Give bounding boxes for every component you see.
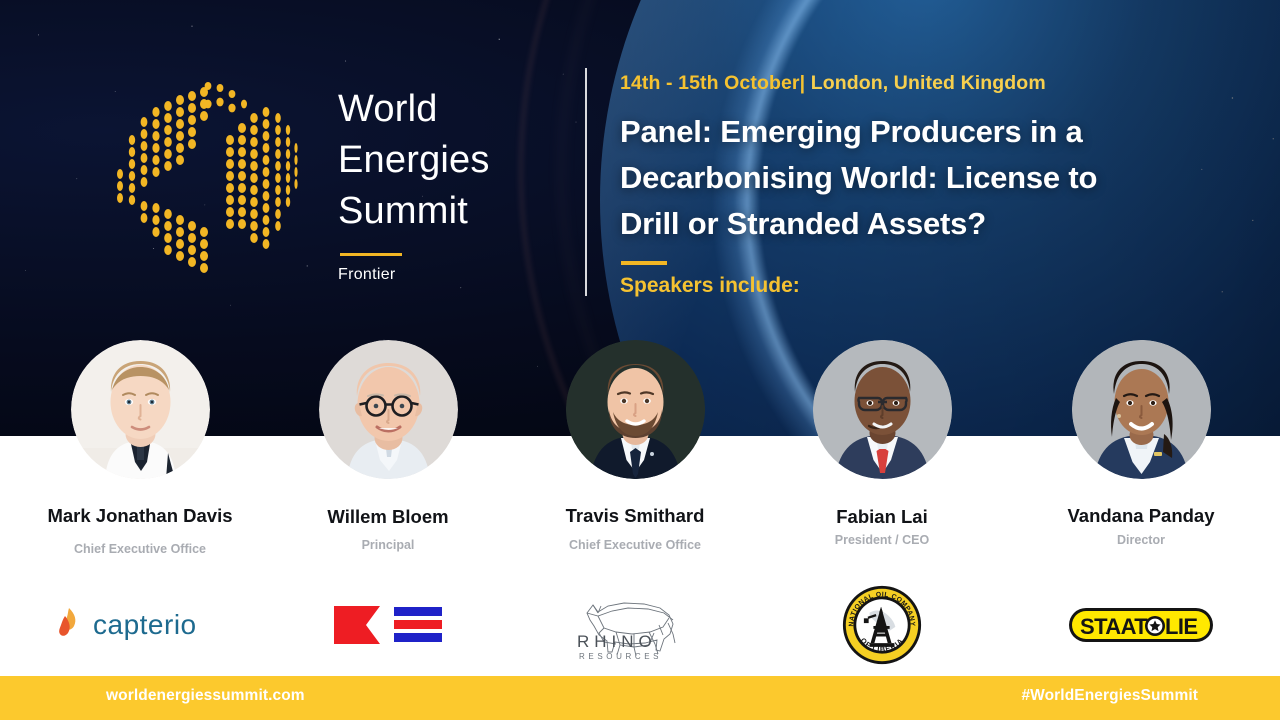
speaker-card-mark-jonathan-davis: Mark Jonathan Davis Chief Executive Offi… [16,340,264,479]
speaker-role: Chief Executive Office [16,542,264,556]
promo-slide: World Energies Summit Frontier 14th - 15… [0,0,1280,720]
speaker-role: Chief Executive Office [511,538,759,552]
event-date-location: 14th - 15th October| London, United King… [620,72,1220,95]
hero-copy: 14th - 15th October| London, United King… [620,72,1220,298]
speaker-card-vandana-panday: Vandana Panday Director [1017,340,1265,479]
company-logo-text-2: LIE [1165,614,1197,639]
avatar [813,340,952,479]
company-logo-row: capterio [0,586,1280,666]
company-logo-noc-liberia: NATIONAL OIL COMPANY OF LIBERIA [767,586,997,664]
company-logo-text: capterio [93,609,197,640]
speaker-role: Principal [264,538,512,552]
avatar [1072,340,1211,479]
speakers-include-label: Speakers include: [620,274,1220,298]
speaker-card-fabian-lai: Fabian Lai President / CEO [758,340,1006,479]
brand-accent-rule [340,253,402,256]
event-date: 14th - 15th October| [620,72,805,94]
footer-bar: worldenergiessummit.com #WorldEnergiesSu… [0,676,1280,720]
speaker-name: Vandana Panday [1017,505,1265,527]
brand-name-line-3: Summit [338,186,578,237]
speaker-card-willem-bloem: Willem Bloem Principal [264,340,512,479]
headline-line-2: Decarbonising World: License to [620,155,1220,201]
vertical-divider [585,68,587,296]
company-logo-kosmos [273,586,503,664]
speaker-name: Mark Jonathan Davis [16,505,264,527]
speaker-role: Director [1017,533,1265,547]
company-logo-subtext: RESOURCES [579,652,662,661]
company-logo-text: RHINO [577,632,657,651]
event-location: London, United Kingdom [811,72,1046,94]
speaker-role: President / CEO [758,533,1006,547]
brand-subtitle: Frontier [338,266,578,284]
brand-name-line-1: World [338,84,578,135]
avatar [71,340,210,479]
brand-logo-lockup: World Energies Summit Frontier [72,78,572,293]
brand-name-line-2: Energies [338,135,578,186]
company-logo-rhino-resources: RHINO RESOURCES [520,586,750,664]
speaker-row: Mark Jonathan Davis Chief Executive Offi… [0,340,1280,570]
headline-line-1: Panel: Emerging Producers in a [620,109,1220,155]
avatar [566,340,705,479]
speaker-name: Fabian Lai [758,506,1006,528]
speaker-card-travis-smithard: Travis Smithard Chief Executive Office [511,340,759,479]
avatar [319,340,458,479]
company-logo-capterio: capterio [30,586,260,664]
footer-website[interactable]: worldenergiessummit.com [106,687,305,705]
footer-hashtag[interactable]: #WorldEnergiesSummit [1021,687,1198,705]
speaker-name: Travis Smithard [511,505,759,527]
brand-wordmark: World Energies Summit Frontier [338,84,578,284]
page-title: Panel: Emerging Producers in a Decarboni… [620,109,1220,247]
dotted-globe-icon [90,78,320,288]
headline-line-3: Drill or Stranded Assets? [620,201,1220,247]
headline-accent-rule [621,261,667,265]
speaker-name: Willem Bloem [264,506,512,528]
company-logo-staatsolie: STAATS LIE [1026,586,1256,664]
